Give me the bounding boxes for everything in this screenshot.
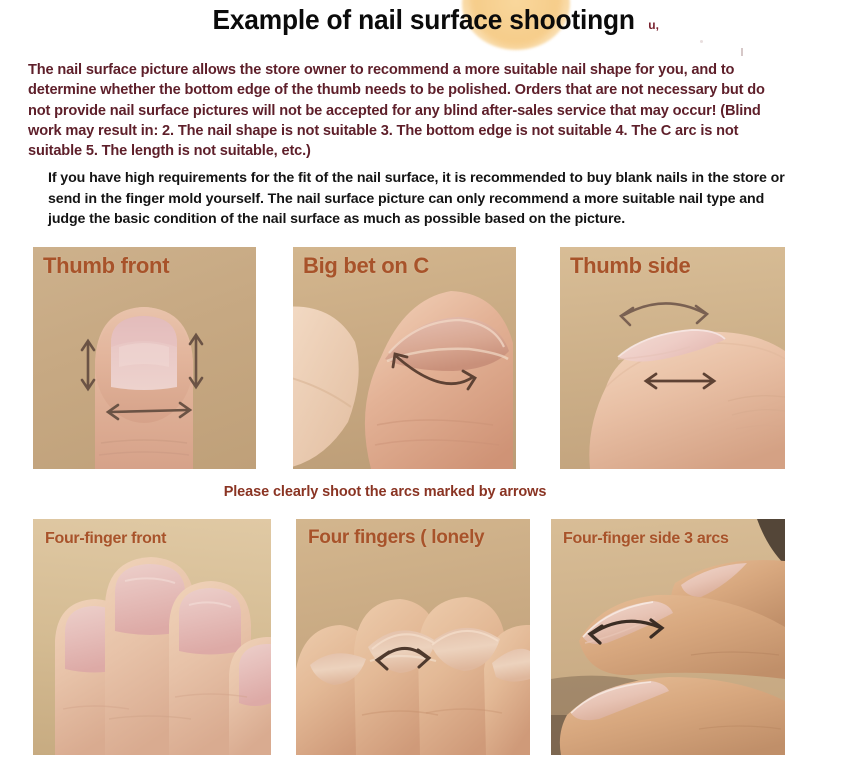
card-label: Thumb front — [43, 253, 250, 278]
photo-card-thumb-side[interactable]: Thumb side — [560, 247, 785, 469]
card-label: Thumb side — [570, 253, 779, 278]
card-label: Four-finger front — [45, 529, 265, 548]
photo-card-four-finger-front[interactable]: Four-finger front — [33, 519, 271, 755]
photo-card-big-bet-on-c[interactable]: Big bet on C — [293, 247, 516, 469]
title-speck — [700, 40, 703, 43]
four-finger-front-photo — [33, 519, 271, 755]
note-paragraph: If you have high requirements for the fi… — [48, 168, 790, 230]
page-title: Example of nail surface shootingn — [213, 4, 635, 36]
card-label: Big bet on C — [303, 253, 510, 278]
poster-root: Example of nail surface shootingnu, The … — [0, 0, 858, 778]
photo-card-four-finger-side-3-arcs[interactable]: Four-finger side 3 arcs — [551, 519, 785, 755]
mid-caption: Please clearly shoot the arcs marked by … — [0, 484, 770, 500]
big-bet-on-c-photo — [293, 247, 516, 469]
four-fingers-lonely-photo — [296, 519, 530, 755]
card-label: Four-finger side 3 arcs — [563, 529, 779, 548]
title-container: Example of nail surface shootingnu, — [0, 4, 858, 36]
title-tick-mark — [741, 48, 743, 56]
title-suffix-artifact: u, — [648, 18, 659, 32]
photo-card-thumb-front[interactable]: Thumb front — [33, 247, 256, 469]
card-label: Four fingers ( lonely — [308, 527, 524, 549]
four-finger-side-3-arcs-photo — [551, 519, 785, 755]
thumb-front-photo — [33, 247, 256, 469]
intro-paragraph: The nail surface picture allows the stor… — [28, 60, 788, 161]
photo-card-four-fingers-lonely[interactable]: Four fingers ( lonely — [296, 519, 530, 755]
thumb-side-photo — [560, 247, 785, 469]
